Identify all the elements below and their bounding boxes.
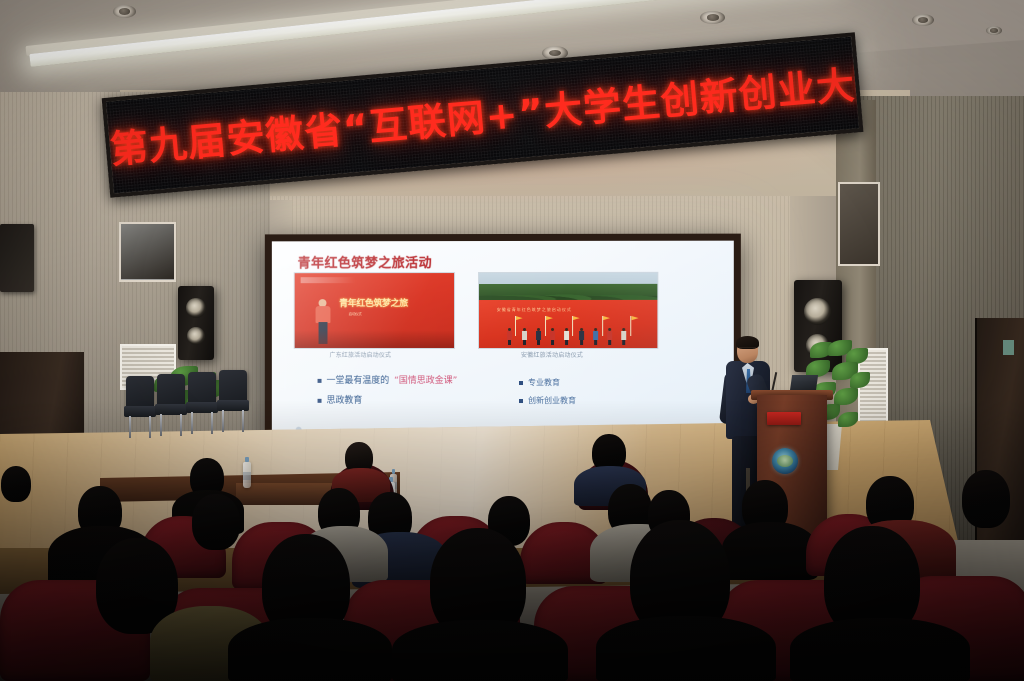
slide-photo-left-sub: 启动仪式 — [349, 311, 421, 316]
slide-bullet-item: 思政教育 — [318, 393, 458, 406]
bullet-square-icon — [318, 379, 322, 383]
audience-head — [192, 494, 240, 550]
stage-chair — [219, 370, 247, 402]
slide-bullets-left: 一堂最有温度的 “国情思政金课” 思政教育 — [318, 373, 458, 413]
stage-chair — [188, 372, 216, 404]
spotlight-icon — [986, 26, 1002, 35]
projection-screen: 青年红色筑梦之旅活动 青年红色筑梦之旅 启动仪式 安徽省青年红色筑梦之旅启动仪式 — [265, 234, 741, 445]
slide-bullet-text: 专业教育 — [528, 377, 560, 388]
slide-photo-right-bannertext: 安徽省青年红色筑梦之旅启动仪式 — [497, 307, 640, 313]
audience-shoulders — [392, 620, 568, 681]
speaker-cabinet-left — [178, 286, 214, 360]
bullet-square-icon — [519, 399, 523, 403]
slide-photo-left-headline: 青年红色筑梦之旅 — [339, 296, 435, 309]
stage-chair — [157, 374, 185, 406]
slide-caption-left: 广东红旅活动启动仪式 — [329, 350, 391, 359]
auditorium-photo: 第九届安徽省“互联网+”大学生创新创业大赛培训会 青年红色筑梦之旅活动 青年红色… — [0, 0, 1024, 681]
stage-chair — [126, 376, 154, 408]
slide-bullet-text: 创新创业教育 — [528, 395, 576, 406]
slide-bullets-right: 专业教育 创新创业教育 — [519, 377, 576, 413]
slide-photo-right: 安徽省青年红色筑梦之旅启动仪式 — [478, 272, 658, 349]
audience-head — [962, 470, 1010, 528]
slide-bullet-text: 一堂最有温度的 — [326, 373, 389, 386]
slide-bullet-highlight: “国情思政金课” — [394, 373, 457, 386]
audience-head — [1, 466, 31, 502]
podium-nameplate — [767, 412, 801, 425]
slide-bullet-item: 创新创业教育 — [519, 395, 576, 406]
spotlight-icon — [912, 14, 934, 26]
slide-title: 青年红色筑梦之旅活动 — [298, 252, 432, 271]
slide-bullet-item: 专业教育 — [519, 377, 576, 388]
audience-shoulders — [722, 522, 818, 580]
upper-window-left — [119, 222, 176, 282]
audience-area — [0, 430, 1024, 681]
upper-window-right — [838, 182, 880, 266]
audience-shoulders — [790, 618, 970, 681]
slide-bullet-text: 思政教育 — [326, 393, 362, 406]
laptop-icon — [790, 375, 818, 391]
spotlight-icon — [113, 5, 136, 18]
audience-shoulders — [228, 618, 392, 681]
presentation-slide: 青年红色筑梦之旅活动 青年红色筑梦之旅 启动仪式 安徽省青年红色筑梦之旅启动仪式 — [272, 241, 734, 438]
wall-speaker-icon — [0, 224, 34, 292]
bullet-square-icon — [519, 381, 523, 385]
audience-shoulders — [596, 616, 776, 681]
slide-bullet-item: 一堂最有温度的 “国情思政金课” — [318, 373, 458, 386]
exit-sign-icon — [1003, 340, 1014, 355]
spotlight-icon — [700, 11, 725, 24]
slide-caption-right: 安徽红旅活动启动仪式 — [521, 350, 583, 359]
slide-photo-left: 青年红色筑梦之旅 启动仪式 — [294, 272, 455, 349]
bullet-square-icon — [318, 399, 322, 403]
